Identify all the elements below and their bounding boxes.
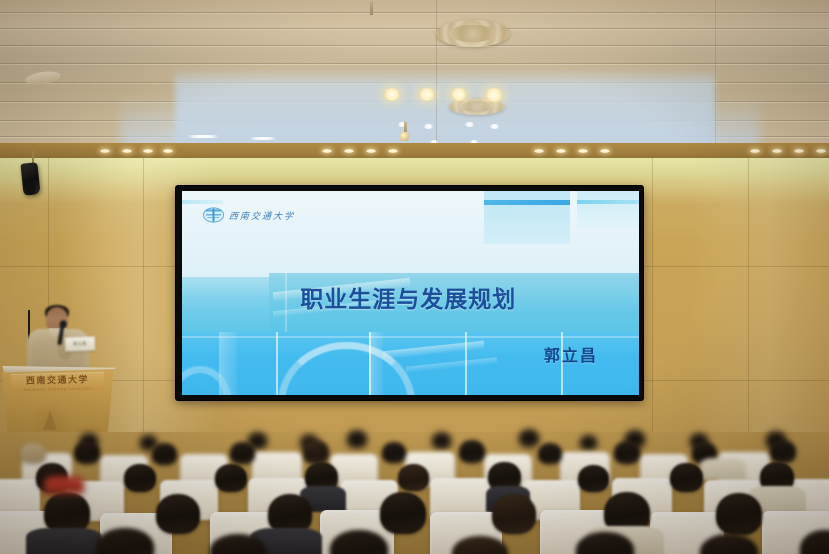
projection-screen: 西南交通大学 职业生涯与发展规划 郭立昌 xyxy=(176,186,643,400)
downlight-icon xyxy=(750,149,760,153)
downlight-icon xyxy=(418,88,436,101)
lecture-hall-photo: 西南交通大学 职业生涯与发展规划 郭立昌 郭立昌 西南交通大学 Southwes… xyxy=(0,0,829,554)
slide-title: 职业生涯与发展规划 xyxy=(182,280,639,314)
slide-surface: 西南交通大学 职业生涯与发展规划 郭立昌 xyxy=(182,191,639,395)
name-card-text: 郭立昌 xyxy=(73,341,87,347)
downlight-icon xyxy=(143,149,153,153)
downlight-icon xyxy=(534,149,544,153)
downlight-icon xyxy=(424,124,433,129)
ceiling xyxy=(0,0,829,145)
downlight-icon xyxy=(490,124,499,129)
pendant-sensor-icon xyxy=(370,1,373,15)
downlight-icon xyxy=(163,149,173,153)
university-logo-text: 西南交通大学 xyxy=(228,209,295,222)
lectern-english-text: Southwest Jiaotong University xyxy=(24,386,91,392)
downlight-icon xyxy=(772,149,782,153)
downlight-icon xyxy=(322,149,332,153)
slide-author: 郭立昌 xyxy=(544,342,598,366)
downlight-icon xyxy=(794,149,804,153)
slide-accent-bar xyxy=(484,200,571,205)
downlight-icon xyxy=(388,149,398,153)
lectern-nameplate: 西南交通大学 Southwest Jiaotong University xyxy=(11,372,104,393)
downlight-icon xyxy=(383,88,401,101)
downlight-icon xyxy=(366,149,376,153)
slide-accent-bar xyxy=(577,200,639,204)
downlight-icon xyxy=(450,88,468,101)
downlight-icon xyxy=(100,149,110,153)
name-card: 郭立昌 xyxy=(65,336,95,351)
pendant-sensor-icon xyxy=(400,132,409,141)
downlight-icon xyxy=(484,88,504,102)
downlight-icon xyxy=(816,149,826,153)
downlight-icon xyxy=(600,149,610,153)
downlight-icon xyxy=(465,122,474,127)
lectern-chinese-text: 西南交通大学 xyxy=(26,375,89,386)
downlight-icon xyxy=(578,149,588,153)
air-diffuser-icon xyxy=(436,20,510,47)
ceiling-mounted-speaker-icon xyxy=(20,162,40,196)
university-crest-icon xyxy=(203,207,224,223)
downlight-icon xyxy=(250,137,276,140)
downlight-icon xyxy=(344,149,354,153)
university-logo: 西南交通大学 xyxy=(203,207,295,223)
downlight-icon xyxy=(122,149,132,153)
downlight-icon xyxy=(187,135,219,138)
downlight-icon xyxy=(556,149,566,153)
